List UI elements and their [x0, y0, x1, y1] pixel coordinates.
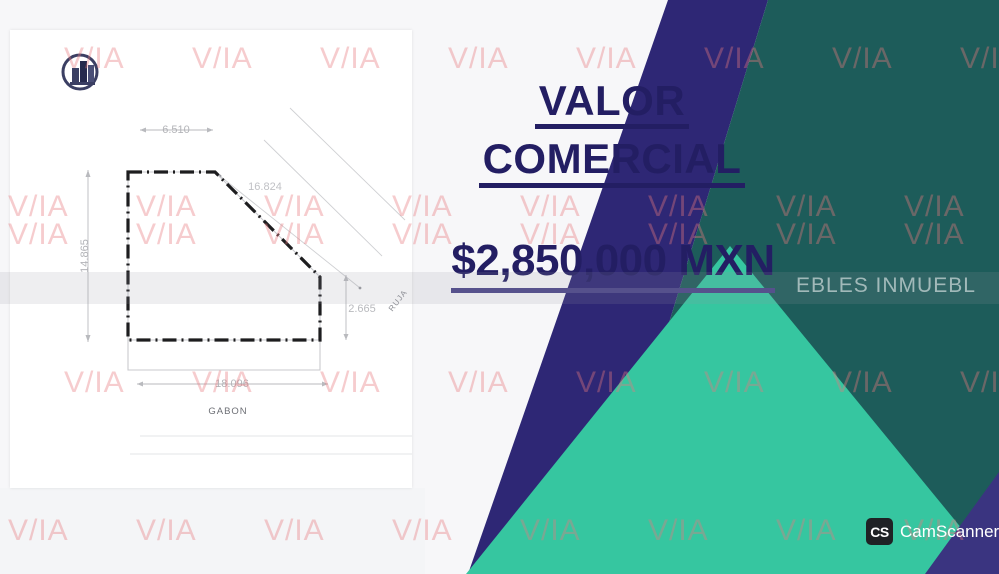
dimension-right-label: 2.665 [348, 303, 376, 315]
dimension-bottom-label: 18.096 [215, 378, 249, 390]
street-lines [220, 108, 405, 288]
site-plan-drawing: 6.510 14.865 16.824 2.665 18.096 [10, 30, 412, 488]
street-label-ruja: RUJA [387, 288, 409, 313]
lot-outline [128, 172, 320, 340]
camscanner-label: CamScanner [900, 522, 999, 542]
headline-line-2: COMERCIAL [479, 136, 746, 187]
price-value: $2,850,000 MXN [451, 236, 774, 293]
parcel-boundary [128, 172, 320, 340]
dimension-top-label: 6.510 [162, 124, 190, 136]
price-block: $2,850,000 MXN [408, 236, 818, 293]
street-label-gabon: GABON [208, 406, 247, 417]
camscanner-logo-icon: CS [866, 518, 893, 545]
headline-line-1: VALOR [535, 78, 689, 129]
building-circle-icon [63, 55, 97, 89]
headline-block: VALOR COMERCIAL [416, 78, 808, 188]
page-rules [130, 436, 412, 454]
camscanner-branding: CS CamScanner [866, 518, 999, 545]
screenshot-canvas: 6.510 14.865 16.824 2.665 18.096 [0, 0, 999, 574]
dimension-left-label: 14.865 [79, 239, 91, 273]
scanned-document-page: 6.510 14.865 16.824 2.665 18.096 [10, 30, 412, 488]
dimension-diagonal-label: 16.824 [248, 181, 282, 193]
